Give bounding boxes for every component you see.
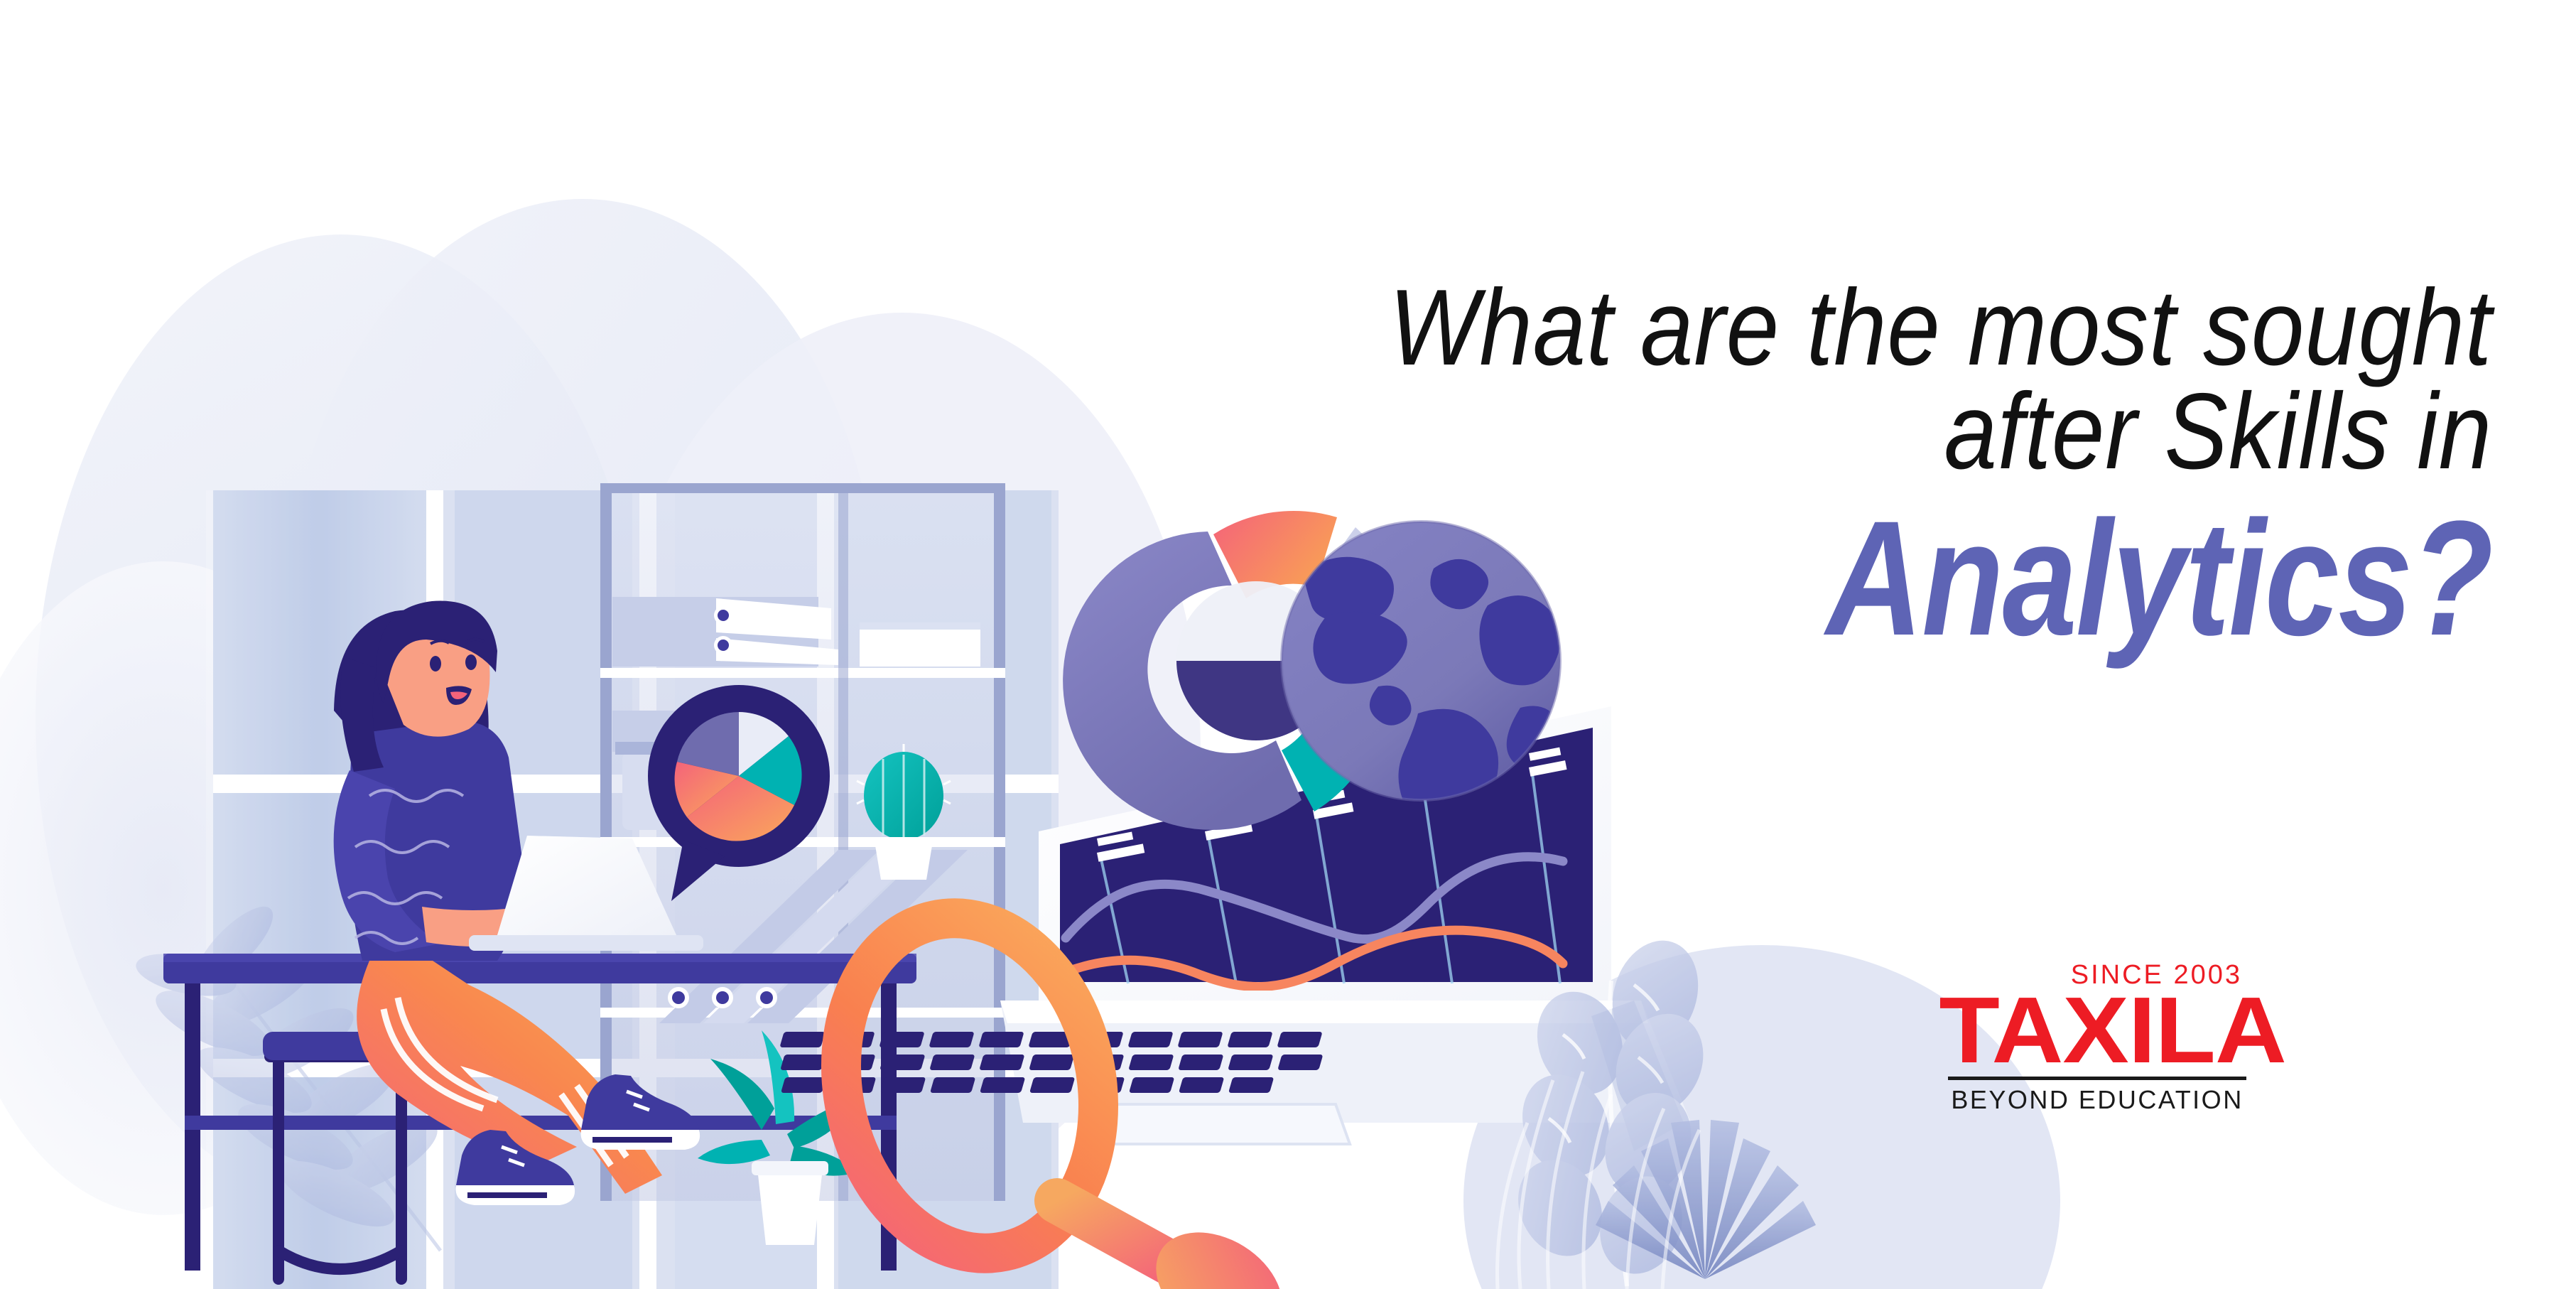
headline-accent-word: Analytics? bbox=[1257, 502, 2492, 655]
headline: What are the most sought after Skills in… bbox=[986, 276, 2492, 655]
logo-wordmark: TAXILA bbox=[1939, 989, 2255, 1072]
laptop-trackpad bbox=[1108, 1104, 1350, 1144]
bookshelf bbox=[600, 483, 1005, 1201]
headline-line-1: What are the most sought bbox=[1167, 276, 2492, 379]
poster-canvas: What are the most sought after Skills in… bbox=[0, 0, 2576, 1289]
taxila-logo: SINCE 2003 TAXILA BEYOND EDUCATION bbox=[1948, 961, 2246, 1113]
binder-stack-top bbox=[612, 597, 838, 667]
headline-line-2: after Skills in bbox=[1167, 379, 2492, 483]
logo-tagline: BEYOND EDUCATION bbox=[1948, 1086, 2246, 1113]
